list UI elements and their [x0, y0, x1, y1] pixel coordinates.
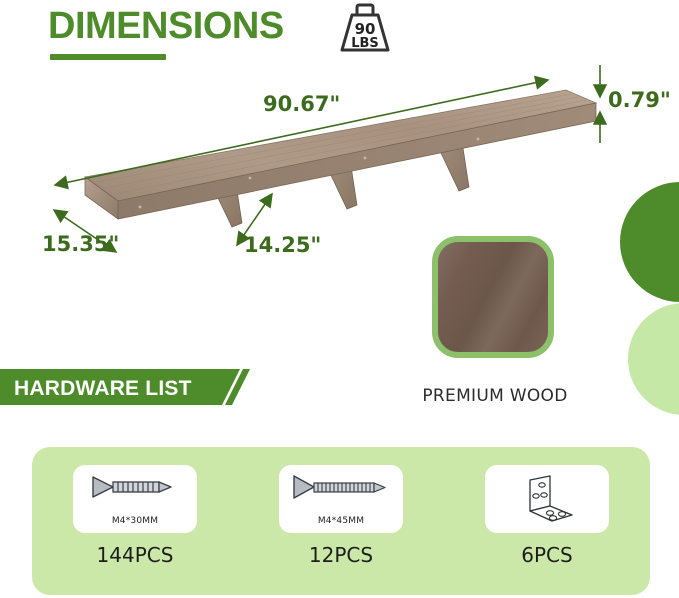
hardware-item: M4*30MM 144PCS [32, 447, 238, 595]
hardware-spec: M4*45MM [279, 516, 403, 526]
dimension-label-thickness: 0.79" [608, 88, 671, 112]
page-title: DIMENSIONS [48, 4, 284, 48]
weight-unit: LBS [351, 36, 379, 51]
flat-head-screw-icon [91, 474, 179, 500]
hardware-card: M4*30MM [73, 465, 197, 533]
hardware-card [485, 465, 609, 533]
wood-swatch [432, 236, 554, 358]
corner-bracket-icon [517, 474, 577, 526]
hardware-item: 6PCS [444, 447, 650, 595]
flat-head-screw-icon [292, 474, 390, 500]
decorative-circle-light [628, 303, 679, 415]
dimension-label-length: 90.67" [263, 92, 340, 116]
hardware-count: 6PCS [444, 543, 650, 567]
dimension-label-depth: 15.35" [42, 232, 119, 256]
shelf-board [85, 90, 596, 219]
hardware-panel: M4*30MM 144PCS [32, 447, 650, 595]
hardware-count: 144PCS [32, 543, 238, 567]
hardware-item: M4*45MM 12PCS [238, 447, 444, 595]
infographic-canvas: DIMENSIONS 90 LBS [0, 0, 679, 598]
decorative-circle-dark [620, 182, 679, 302]
wood-swatch-caption: PREMIUM WOOD [420, 386, 570, 406]
dimension-label-bracket: 14.25" [244, 233, 321, 257]
hardware-count: 12PCS [238, 543, 444, 567]
hardware-spec: M4*30MM [73, 516, 197, 526]
weight-icon: 90 LBS [338, 3, 392, 53]
hardware-list-title: HARDWARE LIST [14, 377, 192, 401]
hardware-card: M4*45MM [279, 465, 403, 533]
